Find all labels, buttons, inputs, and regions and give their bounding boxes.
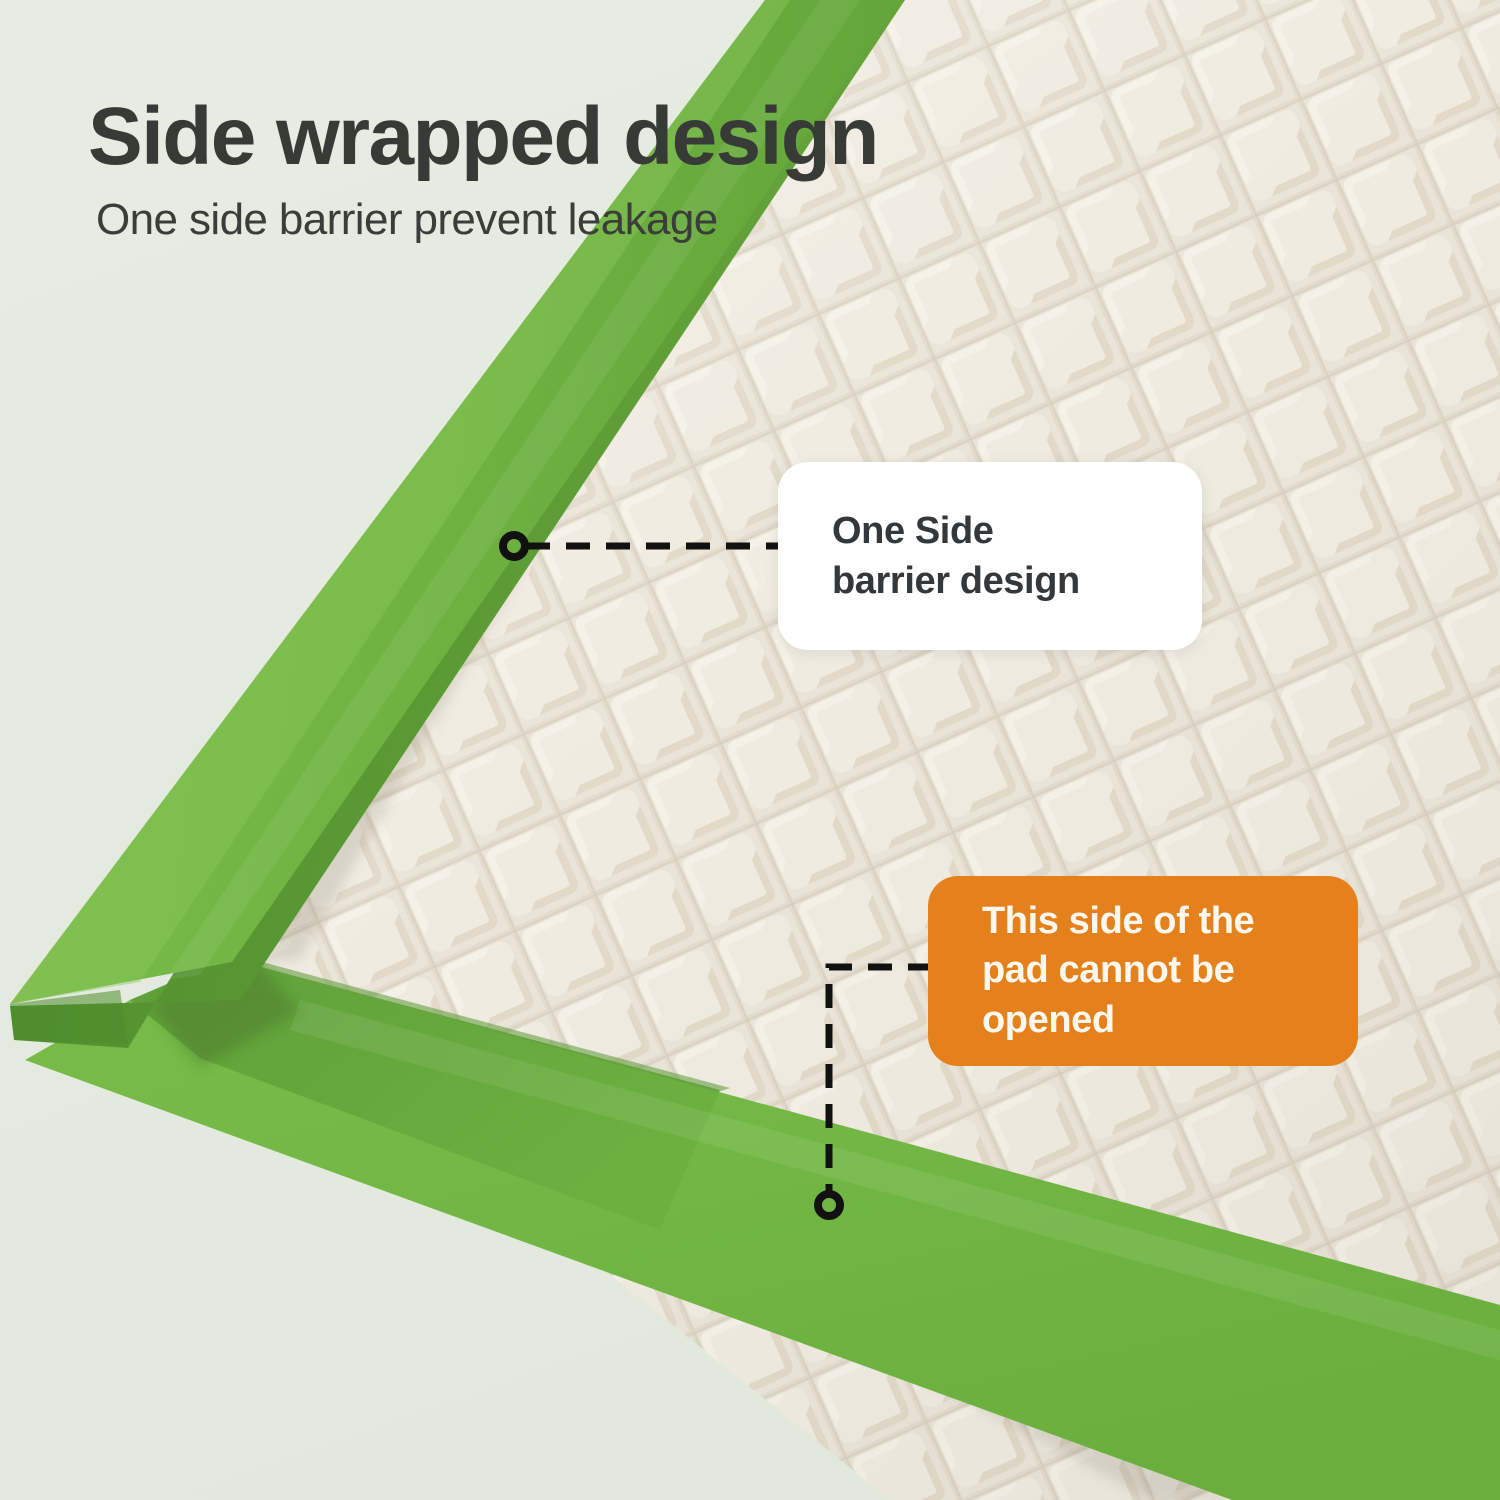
product-photo <box>0 0 1500 1500</box>
callout-one-side-barrier: One Side barrier design <box>778 462 1202 650</box>
callout-cannot-be-opened-text: This side of the pad cannot be opened <box>982 897 1304 1045</box>
callout-cannot-be-opened: This side of the pad cannot be opened <box>928 876 1358 1066</box>
callout-one-side-barrier-text: One Side barrier design <box>832 506 1148 606</box>
infographic-canvas: Side wrapped design One side barrier pre… <box>0 0 1500 1500</box>
